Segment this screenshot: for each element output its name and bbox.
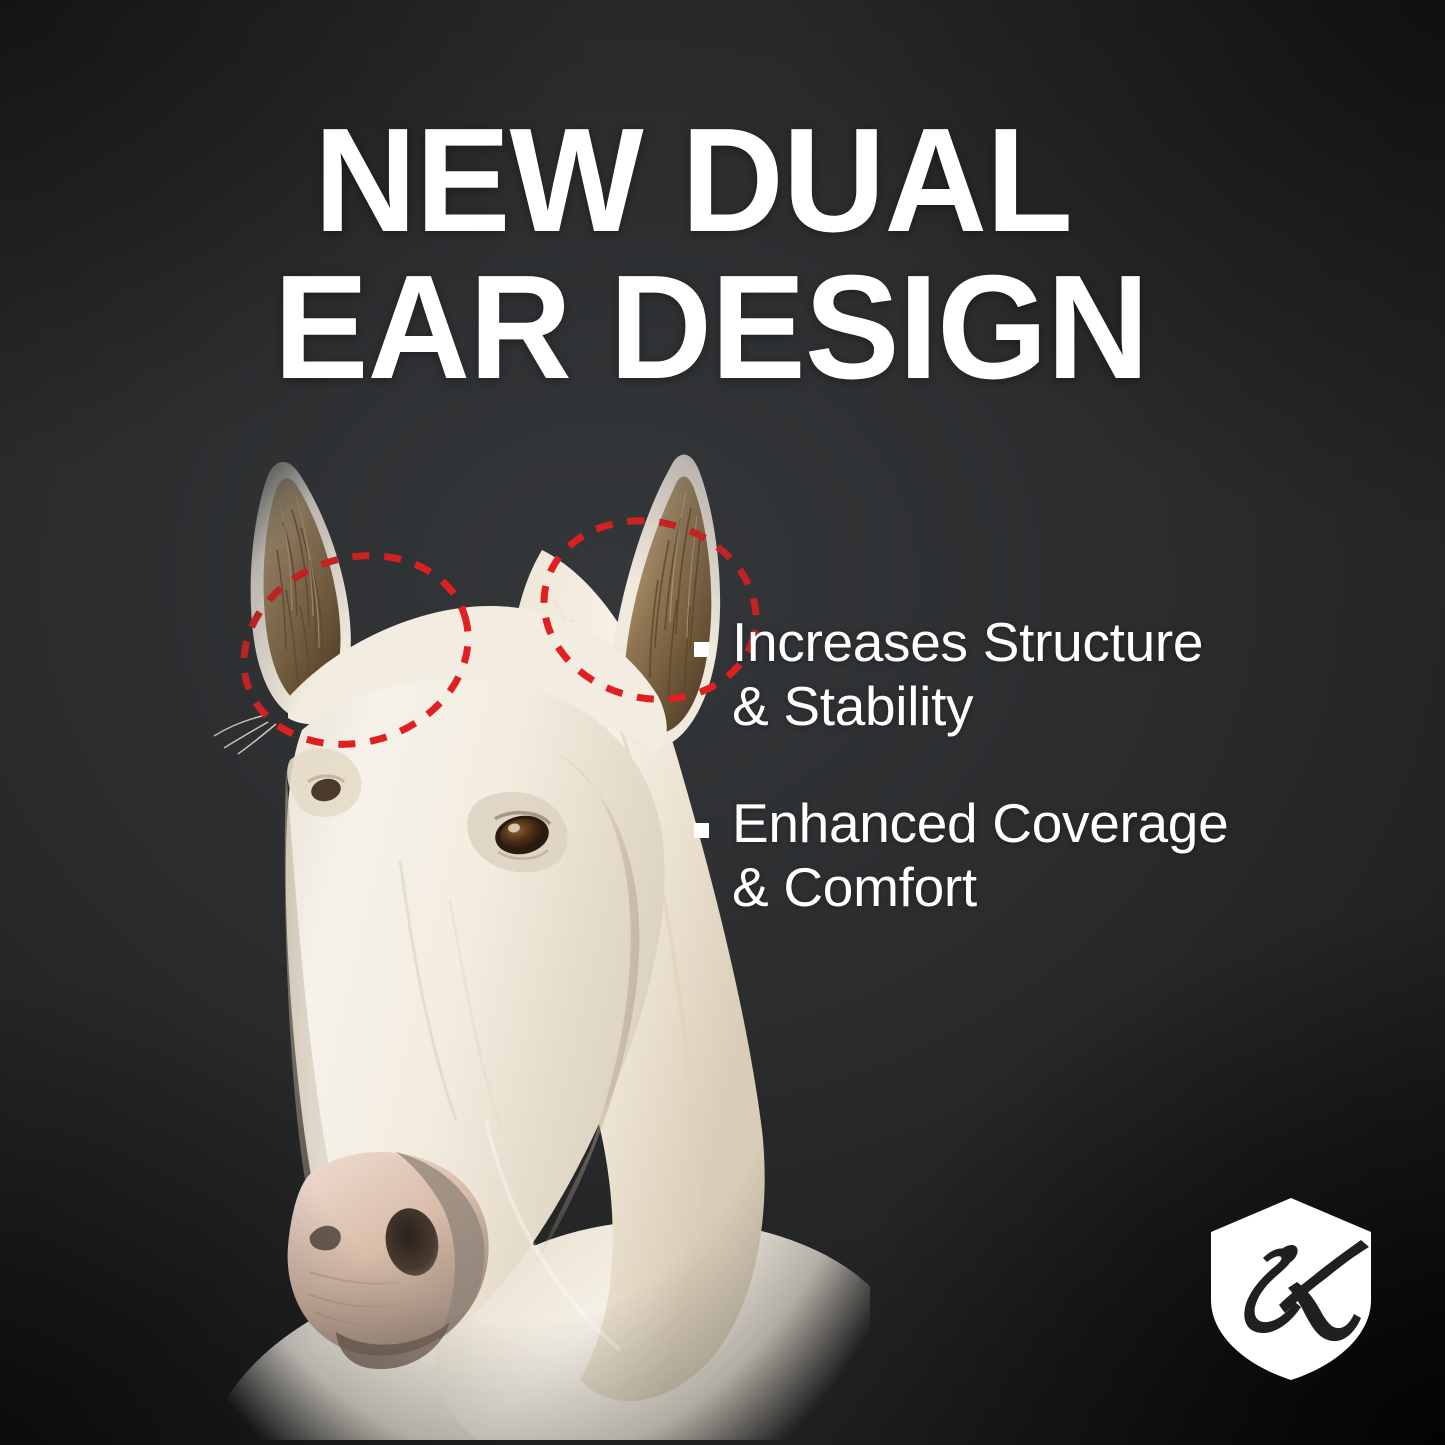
bullet-label-1: Increases Structure & Stability: [732, 610, 1203, 739]
bullet-label-2: Enhanced Coverage & Comfort: [732, 791, 1228, 920]
list-item: Enhanced Coverage & Comfort: [694, 791, 1354, 920]
horse-photo: [150, 430, 870, 1440]
headline-line-2: EAR DESIGN: [268, 255, 1190, 402]
page-title: NEW DUAL EAR DESIGN: [268, 108, 1190, 401]
shield-logo-icon: [1205, 1196, 1377, 1382]
ad-creative-canvas: NEW DUAL EAR DESIGN Increases Structure …: [0, 0, 1445, 1445]
headline-line-1: NEW DUAL: [268, 108, 1190, 255]
feature-bullet-list: Increases Structure & Stability Enhanced…: [694, 610, 1354, 919]
list-item: Increases Structure & Stability: [694, 610, 1354, 739]
brand-logo: [1205, 1196, 1377, 1382]
square-bullet-icon: [694, 823, 709, 838]
horse-illustration: [150, 430, 870, 1440]
square-bullet-icon: [694, 642, 709, 657]
